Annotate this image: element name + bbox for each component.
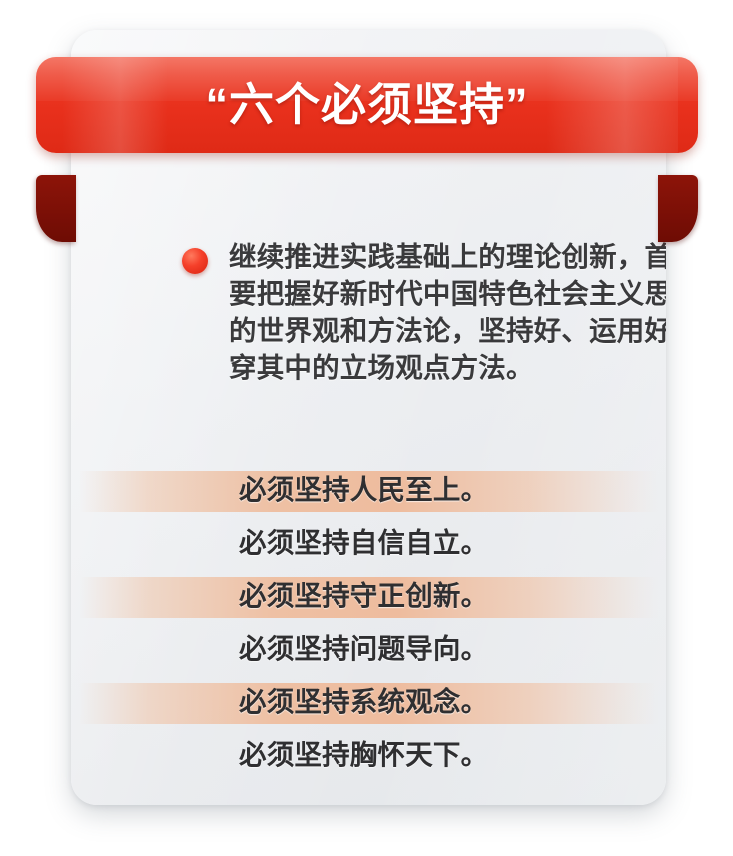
ribbon-fold-left: [36, 175, 76, 242]
list-item: 必须坚持系统观念。: [71, 677, 666, 730]
list-item-label: 必须坚持人民至上。: [239, 465, 488, 518]
list-item: 必须坚持守正创新。: [71, 571, 666, 624]
principles-list: 必须坚持人民至上。必须坚持自信自立。必须坚持守正创新。必须坚持问题导向。必须坚持…: [71, 465, 666, 783]
list-item-label: 必须坚持系统观念。: [239, 677, 488, 730]
intro-block: 继续推进实践基础上的理论创新，首先要把握好新时代中国特色社会主义思想的世界观和方…: [182, 238, 666, 386]
list-item: 必须坚持自信自立。: [71, 518, 666, 571]
list-item-label: 必须坚持自信自立。: [239, 518, 488, 571]
list-item-label: 必须坚持胸怀天下。: [239, 730, 488, 783]
list-item-label: 必须坚持问题导向。: [239, 624, 488, 677]
list-item: 必须坚持胸怀天下。: [71, 730, 666, 783]
intro-paragraph: 继续推进实践基础上的理论创新，首先要把握好新时代中国特色社会主义思想的世界观和方…: [182, 238, 666, 386]
list-item-label: 必须坚持守正创新。: [239, 571, 488, 624]
red-dot-icon: [182, 248, 208, 274]
list-item: 必须坚持人民至上。: [71, 465, 666, 518]
title-ribbon: “六个必须坚持”: [36, 57, 698, 187]
list-item: 必须坚持问题导向。: [71, 624, 666, 677]
banner-title: “六个必须坚持”: [36, 57, 698, 153]
ribbon-fold-right: [658, 175, 698, 242]
